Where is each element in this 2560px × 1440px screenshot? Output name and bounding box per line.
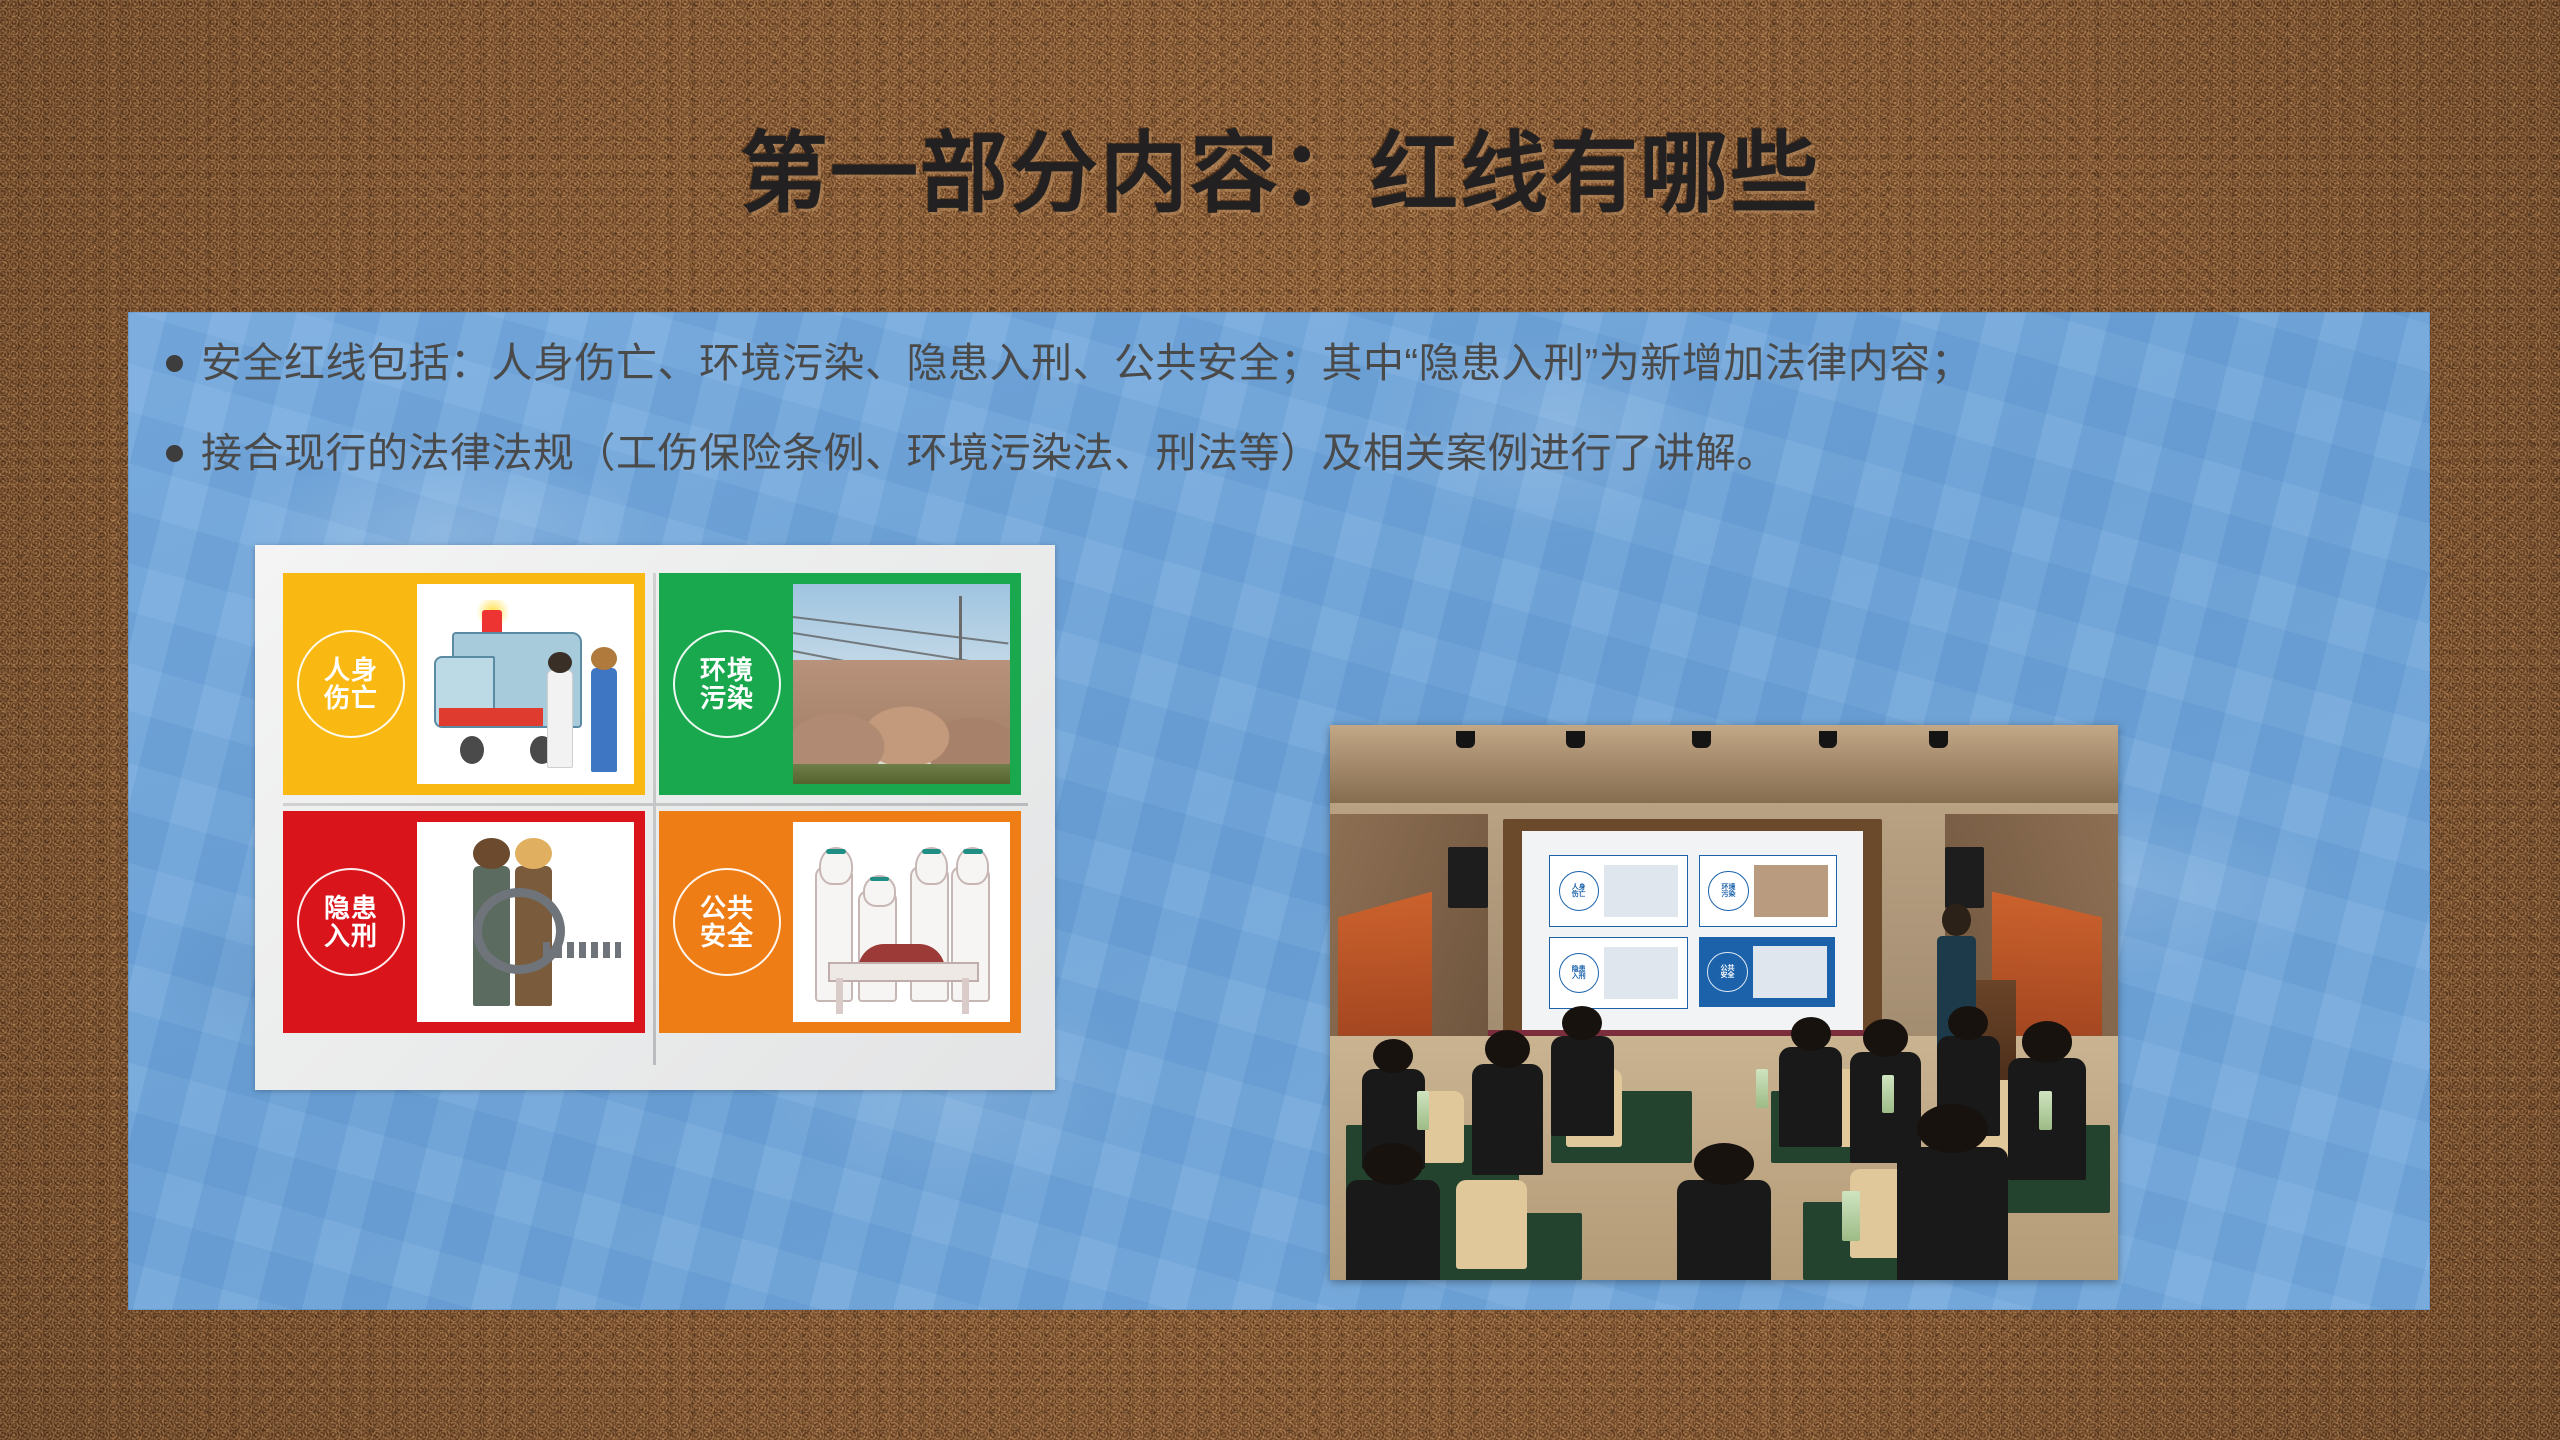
- badge-line-1: 公共: [1720, 965, 1734, 972]
- page-title: 第一部分内容：红线有哪些: [0, 128, 2560, 220]
- bullet-item-2: 接合现行的法律法规（工伤保险条例、环境污染法、刑法等）及相关案例进行了讲解。: [166, 428, 1778, 479]
- attendee-head: [1863, 1019, 1908, 1057]
- medic-head: [548, 652, 572, 673]
- bullet-text-2: 接合现行的法律法规（工伤保险条例、环境污染法、刑法等）及相关案例进行了讲解。: [201, 428, 1778, 479]
- quadrant-badge-hazard-criminal-liability: 隐患 入刑: [297, 868, 405, 976]
- water-bottle: [1417, 1091, 1430, 1130]
- hazmat-hood: [956, 847, 989, 885]
- badge-line-2: 伤亡: [1572, 891, 1586, 898]
- bullet-dot-icon: [166, 445, 183, 462]
- bullet-item-1: 安全红线包括：人身伤亡、环境污染、隐患入刑、公共安全；其中“隐患入刑”为新增加法…: [166, 338, 1972, 389]
- badge-line-1: 人身: [1572, 884, 1586, 891]
- hazmat-rescue-illustration: [793, 822, 1010, 1022]
- screen-badge-personal-injury: 人身 伤亡: [1559, 871, 1599, 911]
- projection-screen-frame: 人身 伤亡 环境 污染: [1503, 819, 1881, 1047]
- quadrant-badge-environmental-pollution: 环境 污染: [673, 630, 781, 738]
- medic-figure-white: [547, 670, 573, 768]
- screen-quadrant-hazard-criminal-liability: 隐患 入刑: [1549, 937, 1687, 1009]
- quadrant-public-safety: 公共 安全: [659, 811, 1021, 1033]
- ceiling-light-icon: [1819, 731, 1838, 749]
- person-head-helmet: [515, 838, 552, 869]
- quadrant-badge-personal-injury: 人身 伤亡: [297, 630, 405, 738]
- badge-line-1: 公共: [700, 893, 754, 923]
- quadrant-badge-public-safety: 公共 安全: [673, 868, 781, 976]
- ceiling-light-icon: [1456, 731, 1475, 749]
- quadrant-personal-injury: 人身 伤亡: [283, 573, 645, 795]
- bullet-dot-icon: [166, 355, 183, 372]
- hazmat-hood: [915, 847, 948, 885]
- attendee-head: [1485, 1030, 1530, 1068]
- attendee-head: [1791, 1017, 1831, 1051]
- ceiling: [1330, 725, 2118, 814]
- attendee: [1346, 1180, 1441, 1280]
- badge-line-2: 安全: [1720, 972, 1734, 979]
- quadrant-hazard-criminal-liability: 隐患 入刑: [283, 811, 645, 1033]
- ceiling-light-icon: [1929, 731, 1948, 749]
- slide-canvas: 第一部分内容：红线有哪些 安全红线包括：人身伤亡、环境污染、隐患入刑、公共安全；…: [0, 0, 2560, 1440]
- water-bottle: [1756, 1069, 1769, 1108]
- content-panel: 安全红线包括：人身伤亡、环境污染、隐患入刑、公共安全；其中“隐患入刑”为新增加法…: [128, 312, 2430, 1310]
- stretcher: [828, 962, 980, 982]
- ceiling-light-icon: [1566, 731, 1585, 749]
- badge-line-2: 伤亡: [324, 683, 378, 713]
- attendee: [1779, 1047, 1842, 1147]
- wall-speaker: [1945, 847, 1984, 908]
- attendee-head: [1917, 1104, 1988, 1153]
- projection-screen: 人身 伤亡 环境 污染: [1522, 831, 1862, 1036]
- wall-speaker: [1448, 847, 1487, 908]
- screen-badge-environmental-pollution: 环境 污染: [1708, 871, 1748, 911]
- badge-line-1: 隐患: [1572, 966, 1586, 973]
- ambulance-wheel: [460, 736, 484, 764]
- respirator-mask-icon: [922, 849, 942, 854]
- attendee-head: [1373, 1039, 1413, 1073]
- badge-line-2: 污染: [1721, 891, 1735, 898]
- badge-line-1: 环境: [700, 655, 754, 685]
- screen-thumb-handcuffs: [1604, 947, 1678, 999]
- presenter-head: [1942, 904, 1970, 936]
- attendee: [1551, 1036, 1614, 1136]
- screen-thumb-hazmat: [1753, 946, 1827, 998]
- respirator-mask-icon: [870, 877, 890, 881]
- badge-line-1: 环境: [1721, 884, 1735, 891]
- ambulance-rescue-illustration: [417, 584, 634, 784]
- attendee-head: [1562, 1006, 1602, 1040]
- respirator-mask-icon: [826, 849, 846, 854]
- screen-quadrant-personal-injury: 人身 伤亡: [1549, 855, 1687, 927]
- quadrant-divider-horizontal: [283, 803, 1028, 806]
- quadrant-divider-vertical: [653, 573, 656, 1065]
- screen-thumb-ambulance: [1604, 865, 1678, 917]
- screen-quadrant-environmental-pollution: 环境 污染: [1699, 855, 1837, 927]
- water-bottle: [1882, 1075, 1895, 1114]
- four-redline-quadrants-graphic: 人身 伤亡: [255, 545, 1055, 1090]
- training-session-photo: 人身 伤亡 环境 污染: [1330, 725, 2118, 1280]
- badge-line-2: 入刑: [324, 921, 378, 951]
- chair: [1456, 1180, 1527, 1269]
- chain-icon: [543, 942, 621, 958]
- attendee-head: [1948, 1006, 1988, 1040]
- attendee: [1897, 1147, 2007, 1280]
- quadrant-environmental-pollution: 环境 污染: [659, 573, 1021, 795]
- handcuff-icon: [473, 888, 565, 974]
- water-bottle: [2039, 1091, 2052, 1130]
- badge-line-1: 隐患: [324, 893, 378, 923]
- stretcher-leg: [962, 978, 969, 1014]
- respirator-mask-icon: [963, 849, 983, 854]
- badge-line-2: 安全: [700, 921, 754, 951]
- ceiling-light-icon: [1692, 731, 1711, 749]
- attendee-head: [2022, 1021, 2072, 1063]
- person-head: [473, 838, 510, 869]
- bullet-text-1: 安全红线包括：人身伤亡、环境污染、隐患入刑、公共安全；其中“隐患入刑”为新增加法…: [201, 338, 1972, 389]
- water-bottle: [1842, 1191, 1859, 1241]
- worker-figure-blue: [591, 668, 617, 772]
- badge-line-2: 入刑: [1572, 973, 1586, 980]
- hazmat-hood: [863, 875, 896, 907]
- screen-thumb-waste: [1754, 865, 1828, 917]
- badge-line-2: 污染: [700, 683, 754, 713]
- screen-quadrant-public-safety: 公共 安全: [1699, 937, 1835, 1007]
- construction-waste-photo: [793, 584, 1010, 784]
- screen-badge-hazard-criminal-liability: 隐患 入刑: [1559, 953, 1599, 993]
- stretcher-leg: [836, 978, 843, 1014]
- attendee-head: [1694, 1143, 1755, 1185]
- attendee-head: [1363, 1143, 1424, 1185]
- attendee: [1472, 1064, 1543, 1175]
- badge-line-1: 人身: [324, 655, 378, 685]
- handcuffed-men-illustration: [417, 822, 634, 1022]
- worker-head: [591, 647, 617, 670]
- attendee: [1677, 1180, 1772, 1280]
- screen-badge-public-safety: 公共 安全: [1707, 952, 1747, 992]
- hazmat-hood: [819, 847, 852, 885]
- ambulance-stripe: [439, 708, 543, 726]
- grass-strip: [793, 764, 1010, 784]
- siren-light-icon: [482, 610, 502, 634]
